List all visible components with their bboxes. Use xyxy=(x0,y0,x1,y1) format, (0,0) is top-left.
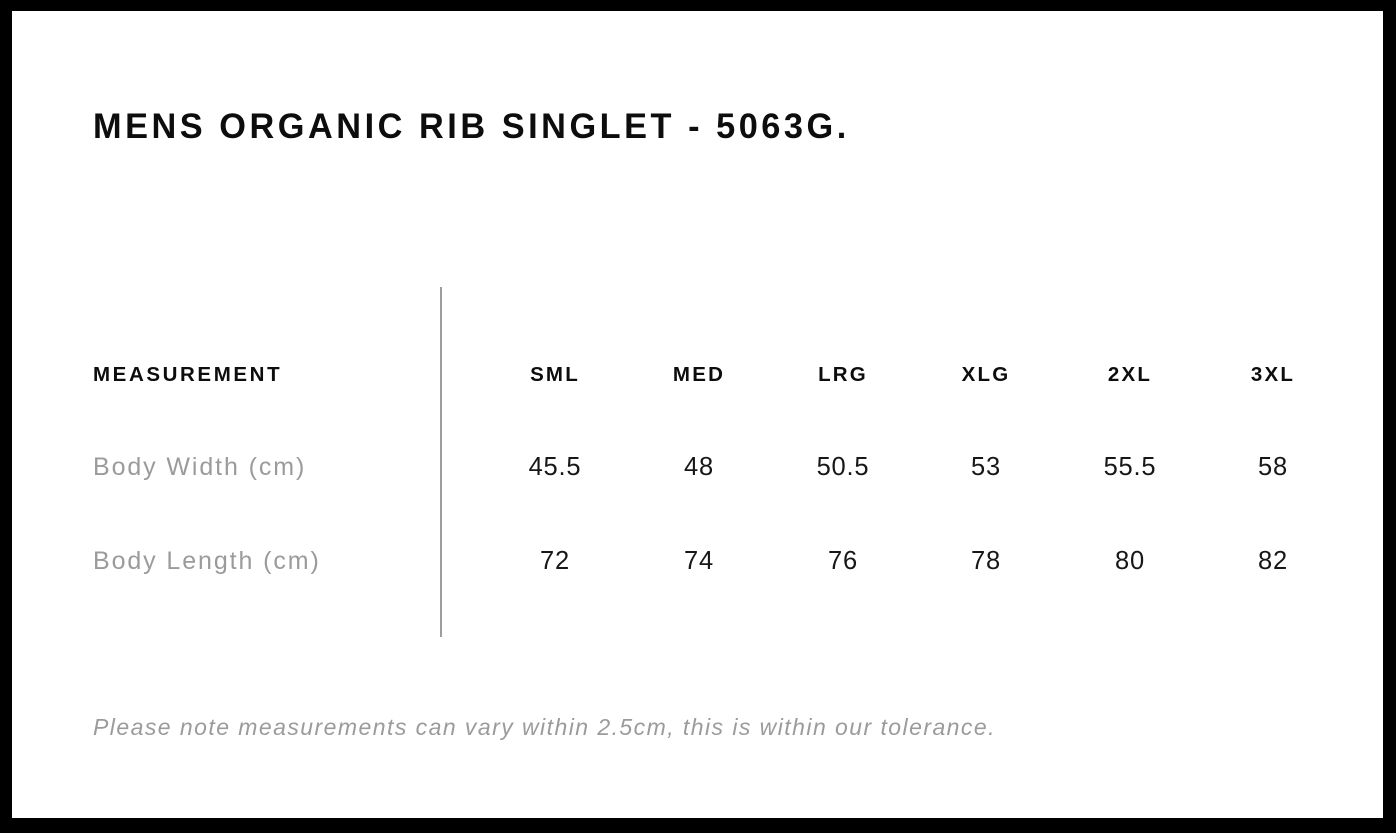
cell-body-length-lrg: 76 xyxy=(763,541,923,581)
size-header-3xl: 3XL xyxy=(1193,355,1353,395)
size-header-med: MED xyxy=(619,355,779,395)
page-frame: MENS ORGANIC RIB SINGLET - 5063G. MEASUR… xyxy=(0,0,1396,833)
cell-body-width-sml: 45.5 xyxy=(475,447,635,487)
table-row: Body Width (cm) 45.5 48 50.5 53 55.5 58 xyxy=(12,447,1383,487)
row-label-body-width: Body Width (cm) xyxy=(93,447,306,487)
cell-body-length-sml: 72 xyxy=(475,541,635,581)
size-header-xlg: XLG xyxy=(906,355,1066,395)
cell-body-length-3xl: 82 xyxy=(1193,541,1353,581)
table-header-row: MEASUREMENT SML MED LRG XLG 2XL 3XL xyxy=(12,355,1383,395)
cell-body-width-lrg: 50.5 xyxy=(763,447,923,487)
measurement-column-header: MEASUREMENT xyxy=(93,355,282,395)
cell-body-width-3xl: 58 xyxy=(1193,447,1353,487)
cell-body-width-med: 48 xyxy=(619,447,779,487)
tolerance-note: Please note measurements can vary within… xyxy=(93,716,996,739)
size-chart-canvas: MENS ORGANIC RIB SINGLET - 5063G. MEASUR… xyxy=(12,11,1383,818)
table-row: Body Length (cm) 72 74 76 78 80 82 xyxy=(12,541,1383,581)
size-chart-table: MEASUREMENT SML MED LRG XLG 2XL 3XL Body… xyxy=(12,11,1383,818)
cell-body-length-xlg: 78 xyxy=(906,541,1066,581)
cell-body-length-2xl: 80 xyxy=(1050,541,1210,581)
cell-body-width-xlg: 53 xyxy=(906,447,1066,487)
row-label-body-length: Body Length (cm) xyxy=(93,541,321,581)
cell-body-length-med: 74 xyxy=(619,541,779,581)
cell-body-width-2xl: 55.5 xyxy=(1050,447,1210,487)
size-header-lrg: LRG xyxy=(763,355,923,395)
size-header-sml: SML xyxy=(475,355,635,395)
size-header-2xl: 2XL xyxy=(1050,355,1210,395)
